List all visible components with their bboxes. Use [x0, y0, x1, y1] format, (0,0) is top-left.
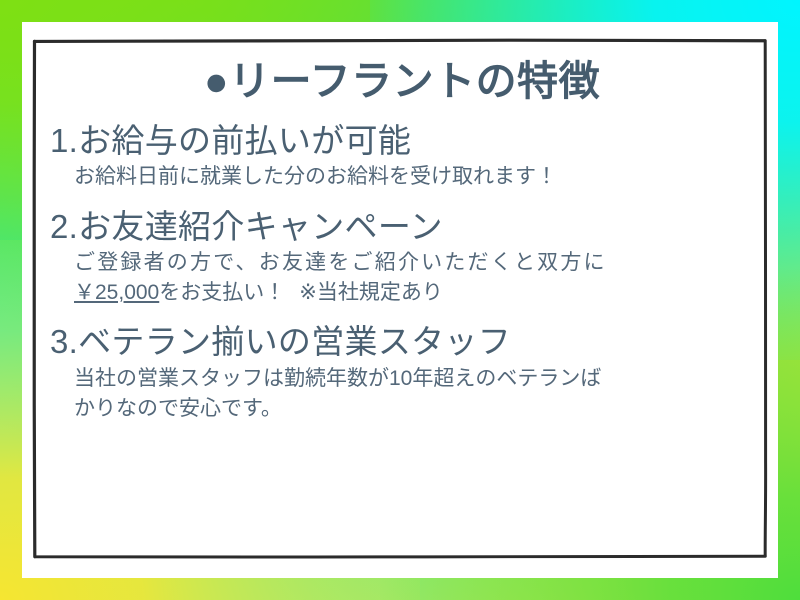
referral-amount: ￥25,000 — [74, 281, 159, 304]
feature-2-description-line-2: ￥25,000をお支払い！※当社規定あり — [74, 278, 754, 308]
feature-2-heading: 2.お友達紹介キャンペーン — [50, 207, 754, 247]
slide-content: ●リーフラントの特徴 1.お給与の前払いが可能 お給料日前に就業した分のお給料を… — [32, 38, 768, 559]
referral-note: ※当社規定あり — [299, 281, 443, 304]
page-title: ●リーフラントの特徴 — [50, 60, 754, 103]
feature-item-3: 3.ベテラン揃いの営業スタッフ 当社の営業スタッフは勤続年数が10年超えのベテラ… — [50, 322, 754, 424]
referral-amount-suffix: をお支払い！ — [159, 281, 285, 304]
white-card: ●リーフラントの特徴 1.お給与の前払いが可能 お給料日前に就業した分のお給料を… — [22, 22, 778, 578]
hand-drawn-frame: ●リーフラントの特徴 1.お給与の前払いが可能 お給料日前に就業した分のお給料を… — [32, 38, 768, 559]
feature-3-description-line-2: かりなので安心です。 — [74, 394, 754, 424]
feature-item-2: 2.お友達紹介キャンペーン ご登録者の方で、お友達をご紹介いただくと双方に ￥2… — [50, 207, 754, 309]
feature-2-description-line-1: ご登録者の方で、お友達をご紹介いただくと双方に — [74, 248, 754, 278]
feature-3-description-line-1: 当社の営業スタッフは勤続年数が10年超えのベテランば — [74, 364, 754, 394]
feature-1-heading: 1.お給与の前払いが可能 — [50, 121, 754, 161]
slide-background: ●リーフラントの特徴 1.お給与の前払いが可能 お給料日前に就業した分のお給料を… — [0, 0, 800, 600]
feature-1-description-line-1: お給料日前に就業した分のお給料を受け取れます！ — [74, 162, 754, 192]
feature-3-heading: 3.ベテラン揃いの営業スタッフ — [50, 322, 754, 362]
feature-item-1: 1.お給与の前払いが可能 お給料日前に就業した分のお給料を受け取れます！ — [50, 121, 754, 192]
